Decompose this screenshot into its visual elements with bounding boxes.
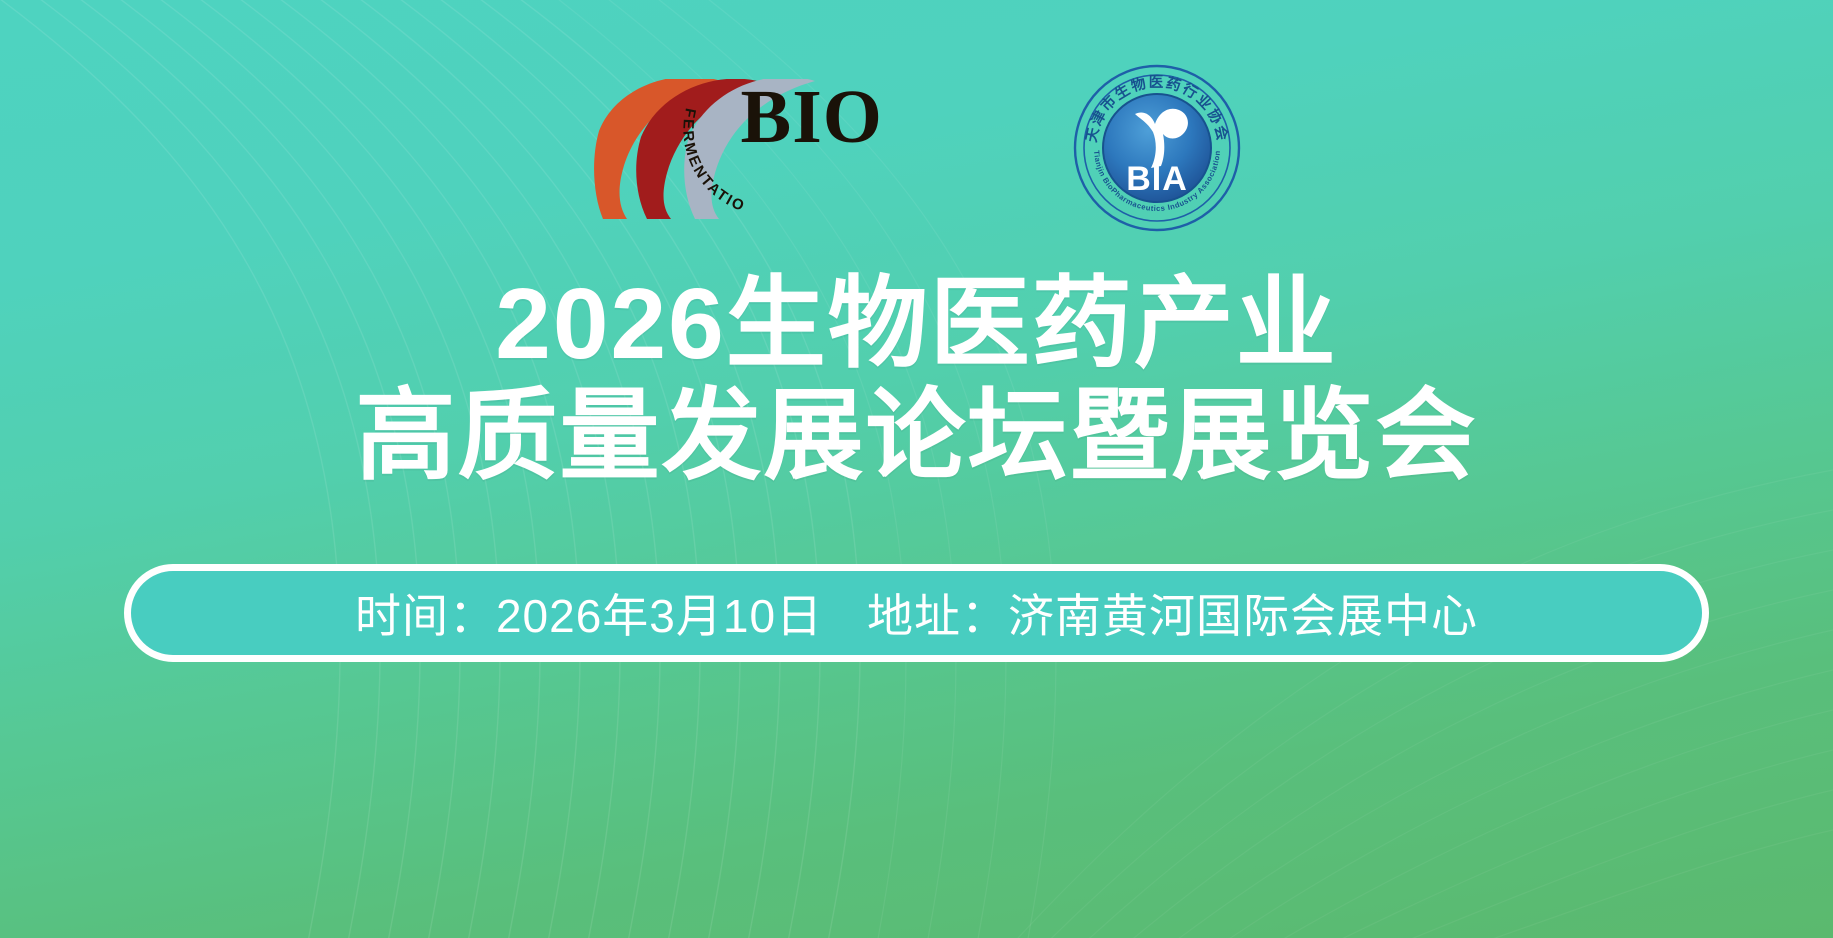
event-address-value: 济南黄河国际会展中心 [1008, 590, 1478, 642]
title-line-2: 高质量发展论坛暨展览会 [0, 380, 1833, 492]
page-title: 2026生物医药产业 高质量发展论坛暨展览会 [0, 268, 1833, 492]
event-poster: FERMENTATION BIO [0, 0, 1833, 938]
bia-association-logo: 天津市生物医药行业协会 Tianjin BioPharmaceutics Ind… [1073, 64, 1241, 232]
fermentation-label: FERMENTATION [653, 85, 748, 215]
event-info-bar: 时间：2026年3月10日 地址：济南黄河国际会展中心 [124, 564, 1709, 662]
bio-wordmark: BIO [741, 79, 883, 155]
title-line-1: 2026生物医药产业 [0, 268, 1833, 380]
svg-text:FERMENTATION: FERMENTATION [653, 85, 748, 215]
event-address-label: 地址： [867, 590, 1008, 642]
bia-badge-icon: 天津市生物医药行业协会 Tianjin BioPharmaceutics Ind… [1073, 64, 1241, 232]
event-time-value: 2026年3月10日 [496, 590, 823, 642]
event-time-label: 时间： [355, 590, 496, 642]
event-time: 时间：2026年3月10日 [355, 580, 823, 646]
logo-row: FERMENTATION BIO [0, 58, 1833, 238]
bia-acronym-label: BIA [1126, 160, 1188, 198]
bio-fermentation-logo: FERMENTATION BIO [593, 73, 923, 223]
event-address: 地址：济南黄河国际会展中心 [867, 580, 1478, 646]
